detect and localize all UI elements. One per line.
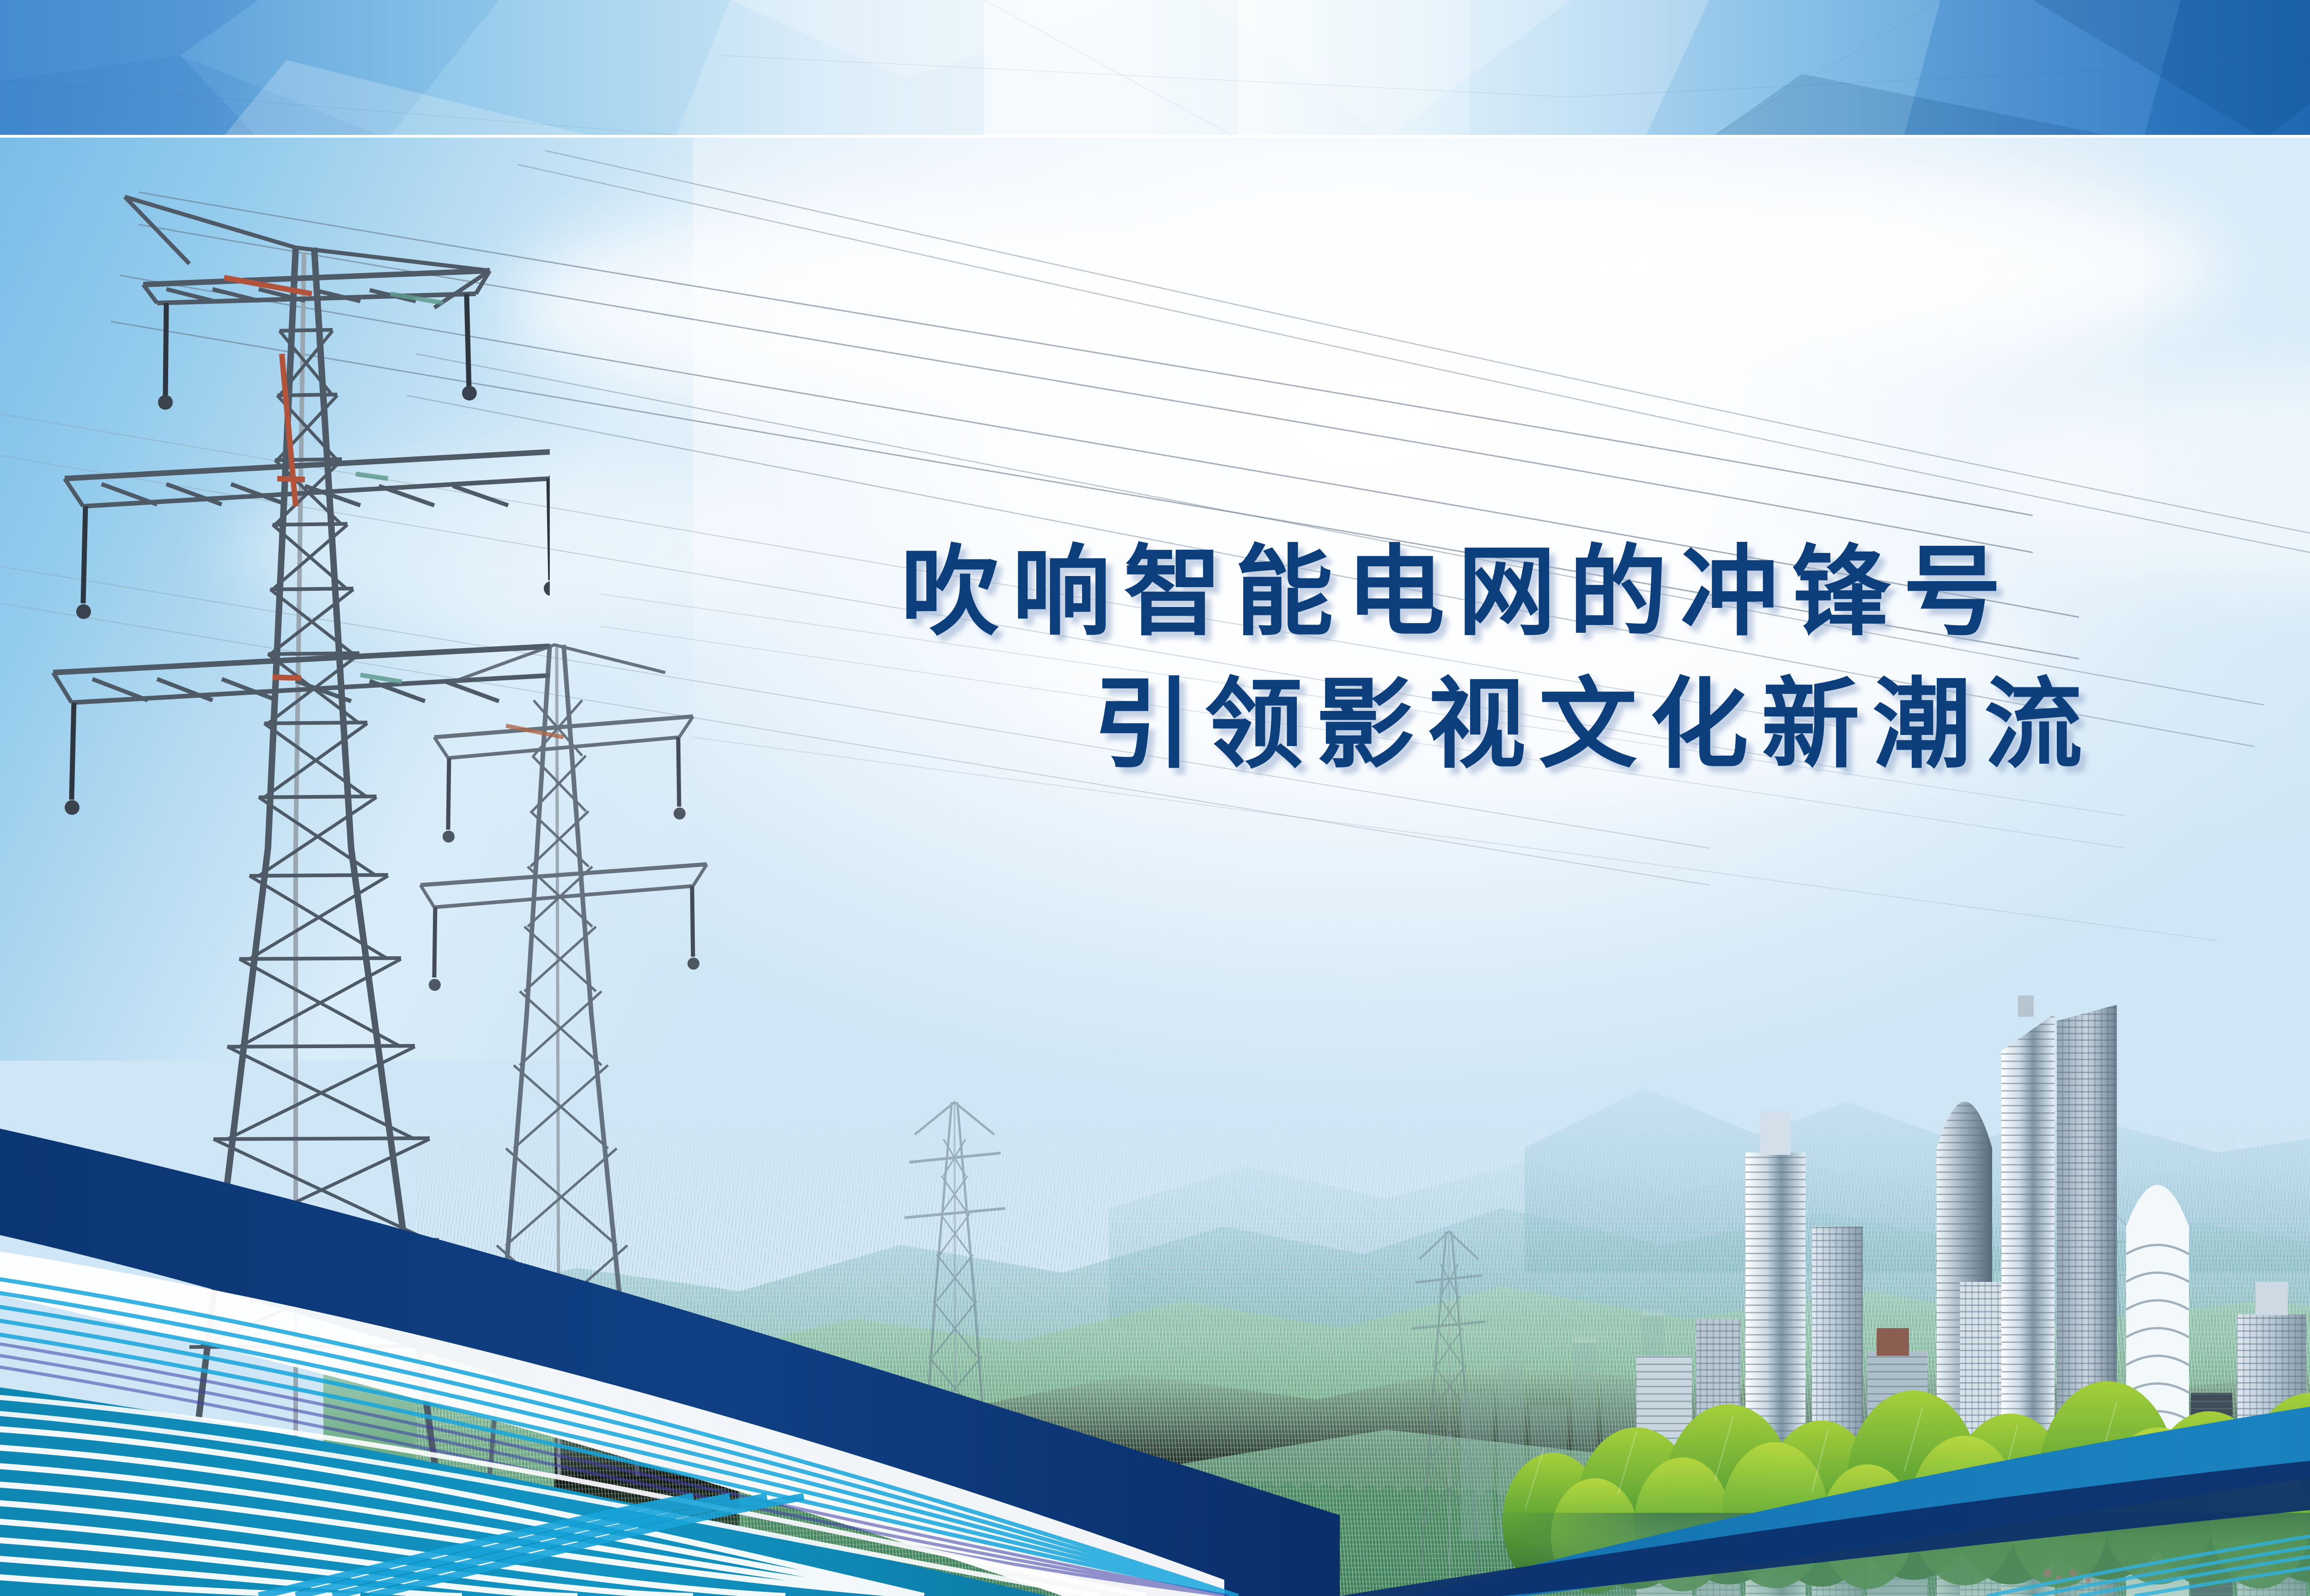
title-line-2: 引领影视文化新潮流	[0, 675, 2310, 774]
top-band	[0, 0, 2310, 137]
title-line-1: 吹响智能电网的冲锋号	[0, 543, 2310, 641]
river	[1498, 1513, 2310, 1596]
banner-title: 吹响智能电网的冲锋号 引领影视文化新潮流	[0, 543, 2310, 774]
low-poly-triangle-mosaic	[0, 0, 2310, 137]
band-separator	[0, 135, 2310, 138]
transmission-tower-distant-1	[887, 1084, 1021, 1527]
scene-photo	[0, 137, 2310, 1596]
banner-canvas: 吹响智能电网的冲锋号 引领影视文化新潮流	[0, 0, 2310, 1596]
